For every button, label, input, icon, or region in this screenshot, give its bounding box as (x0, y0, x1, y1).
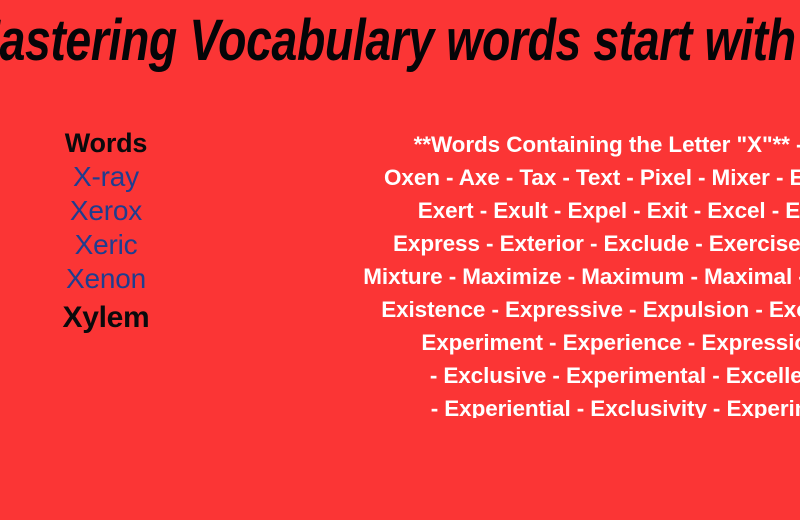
paragraph-line-text: Exert - Exult - Expel - Exit - Excel - E… (418, 194, 800, 227)
word-paragraph-block: **Words Containing the Letter "X"** - Ox… (212, 128, 800, 418)
paragraph-line: **Words Containing the Letter "X"** - Ox… (212, 128, 800, 161)
paragraph-line: Exert - Exult - Expel - Exit - Excel - E… (212, 194, 800, 227)
paragraph-line: Experiment - Experience - Expression - E… (212, 326, 800, 359)
paragraph-line-text: Experiment - Experience - Expression - E… (421, 326, 800, 359)
paragraph-line: Existence - Expressive - Expulsion - Exc… (212, 293, 800, 326)
word-list-heading: Words (0, 126, 212, 160)
paragraph-line-text: Mixture - Maximize - Maximum - Maximal -… (363, 260, 800, 293)
paragraph-line-text: - Exclusive - Experimental - Excellency … (430, 359, 800, 392)
page-title: Mastering Vocabulary words start with X (0, 8, 800, 75)
word-list-item-xray: X-ray (0, 160, 212, 194)
paragraph-line: - Exclusive - Experimental - Excellency … (212, 359, 800, 392)
word-list-item-xenon: Xenon (0, 262, 212, 296)
word-list-item-xeric: Xeric (0, 228, 212, 262)
paragraph-line: Mixture - Maximize - Maximum - Maximal -… (212, 260, 800, 293)
paragraph-line-text: Express - Exterior - Exclude - Exercise … (393, 227, 800, 260)
paragraph-line-text: **Words Containing the Letter "X"** - Ox… (414, 128, 800, 161)
slide-canvas: Mastering Vocabulary words start with X … (0, 0, 800, 520)
word-list-item-xylem: Xylem (0, 301, 212, 335)
paragraph-line: Express - Exterior - Exclude - Exercise … (212, 227, 800, 260)
paragraph-line-text: - Experiential - Exclusivity - Experimen… (431, 392, 800, 418)
paragraph-line: - Experiential - Exclusivity - Experimen… (212, 392, 800, 418)
title-band: Mastering Vocabulary words start with X (0, 0, 800, 92)
paragraph-line: Oxen - Axe - Tax - Text - Pixel - Mixer … (212, 161, 800, 194)
paragraph-line-text: Oxen - Axe - Tax - Text - Pixel - Mixer … (384, 161, 800, 194)
word-list-column: Words X-ray Xerox Xeric Xenon Xylem (0, 126, 212, 335)
paragraph-line-text: Existence - Expressive - Expulsion - Exc… (381, 293, 800, 326)
word-list-item-xerox: Xerox (0, 194, 212, 228)
